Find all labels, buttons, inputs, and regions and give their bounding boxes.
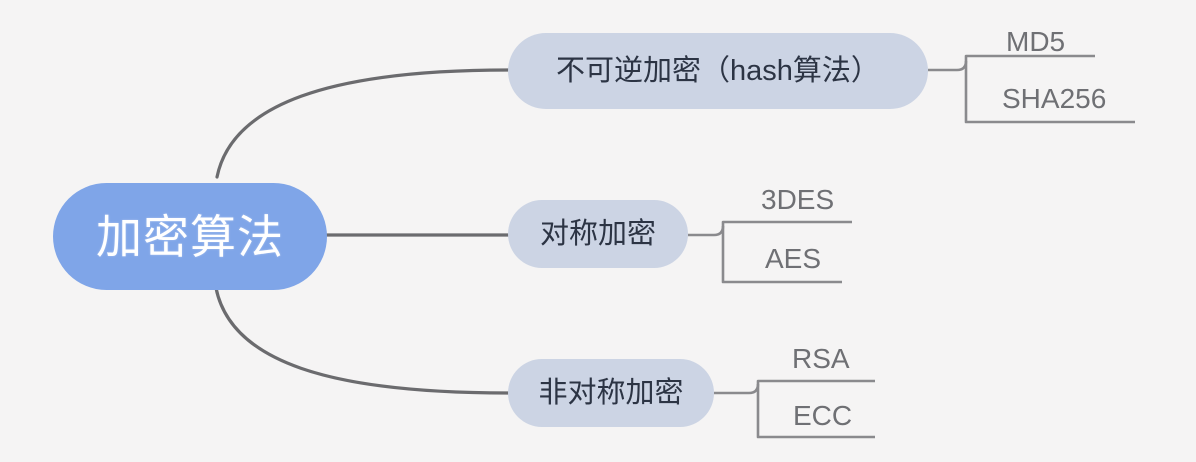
- branch-node-asymmetric[interactable]: 非对称加密: [508, 359, 714, 427]
- connector-root-to-asymmetric: [216, 288, 508, 393]
- connector-hash-bracket: [928, 56, 1095, 70]
- leaf-node-ecc[interactable]: ECC: [793, 402, 852, 430]
- connector-symmetric-bracket: [688, 222, 852, 235]
- leaf-node-aes[interactable]: AES: [765, 245, 821, 273]
- connector-asymmetric-bracket: [714, 381, 875, 393]
- leaf-node-rsa[interactable]: RSA: [792, 345, 850, 373]
- leaf-node-md5[interactable]: MD5: [1006, 28, 1065, 56]
- root-node-label: 加密算法: [96, 214, 284, 260]
- branch-node-hash-label: 不可逆加密（hash算法）: [556, 57, 880, 86]
- branch-node-symmetric[interactable]: 对称加密: [508, 200, 688, 268]
- leaf-node-3des[interactable]: 3DES: [761, 186, 834, 214]
- leaf-node-sha256[interactable]: SHA256: [1002, 85, 1106, 113]
- branch-node-symmetric-label: 对称加密: [540, 220, 656, 249]
- mindmap-root-node[interactable]: 加密算法: [53, 183, 327, 290]
- branch-node-hash[interactable]: 不可逆加密（hash算法）: [508, 33, 928, 109]
- connector-root-to-hash: [217, 70, 508, 177]
- branch-node-asymmetric-label: 非对称加密: [538, 379, 683, 408]
- mindmap-canvas: 加密算法 不可逆加密（hash算法） 对称加密 非对称加密 MD5 SHA256…: [0, 0, 1196, 462]
